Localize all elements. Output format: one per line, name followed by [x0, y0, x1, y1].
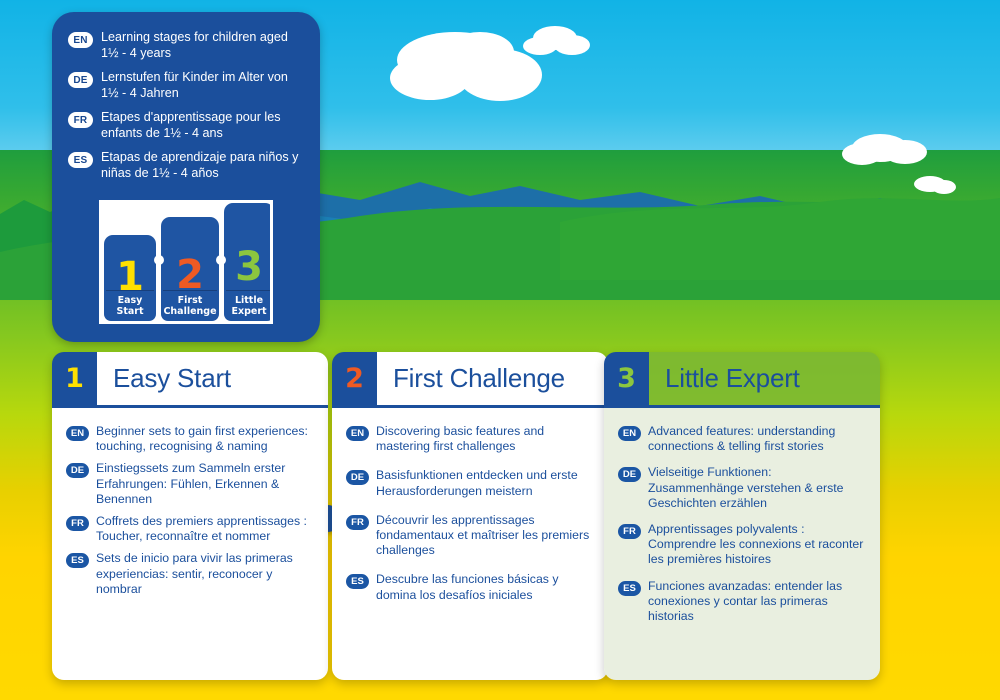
brand-logo-123: 1 EasyStart 2 FirstChallenge 3 LittleExp…	[99, 200, 273, 324]
card-title-1: Easy Start	[97, 352, 328, 405]
language-badge-fr: FR	[618, 524, 641, 539]
language-badge-en: EN	[68, 32, 93, 48]
logo-divider	[226, 290, 270, 291]
logo-connector-dot	[154, 255, 164, 265]
card-body: EN Advanced features: understanding conn…	[604, 408, 880, 680]
intro-line: ES Etapas de aprendizaje para niños y ni…	[68, 150, 304, 181]
language-badge-de: DE	[68, 72, 93, 88]
cloud-right	[842, 134, 927, 165]
language-badge-fr: FR	[66, 516, 89, 531]
card-text-fr: Coffrets des premiers apprentissages : T…	[96, 514, 312, 544]
card-text-es: Sets de inicio para vivir las primeras e…	[96, 551, 312, 597]
language-badge-de: DE	[618, 467, 641, 482]
logo-label-2: FirstChallenge	[161, 296, 219, 317]
language-badge-es: ES	[618, 581, 641, 596]
card-title-2: First Challenge	[377, 352, 608, 405]
card-text-es: Funciones avanzadas: entender las conexi…	[648, 579, 864, 625]
language-badge-de: DE	[66, 463, 89, 478]
logo-number-3: 3	[224, 247, 270, 287]
language-badge-es: ES	[68, 152, 93, 168]
card-text-de: Basisfunktionen entdecken und erste Hera…	[376, 468, 592, 498]
card-header: 2 First Challenge	[332, 352, 608, 408]
intro-text-en: Learning stages for children aged 1½ - 4…	[101, 30, 304, 61]
intro-text-de: Lernstufen für Kinder im Alter von 1½ - …	[101, 70, 304, 101]
card-text-fr: Découvrir les apprentissages fondamentau…	[376, 513, 592, 559]
intro-panel: EN Learning stages for children aged 1½ …	[52, 12, 320, 342]
cloud-large	[390, 32, 542, 101]
card-line: ES Funciones avanzadas: entender las con…	[618, 579, 864, 625]
logo-divider	[106, 290, 154, 291]
language-badge-fr: FR	[346, 515, 369, 530]
card-text-es: Descubre las funciones básicas y domina …	[376, 572, 592, 602]
card-body: EN Discovering basic features and master…	[332, 408, 608, 680]
intro-text-fr: Etapes d'apprentissage pour les enfants …	[101, 110, 304, 141]
card-line: DE Vielseitige Funktionen: Zusammenhänge…	[618, 465, 864, 511]
intro-line: FR Etapes d'apprentissage pour les enfan…	[68, 110, 304, 141]
language-badge-fr: FR	[68, 112, 93, 128]
card-line: FR Découvrir les apprentissages fondamen…	[346, 513, 592, 559]
card-line: DE Basisfunktionen entdecken und erste H…	[346, 468, 592, 498]
card-text-en: Advanced features: understanding connect…	[648, 424, 864, 454]
intro-line: DE Lernstufen für Kinder im Alter von 1½…	[68, 70, 304, 101]
stage-card-first-challenge: 2 First Challenge EN Discovering basic f…	[332, 352, 608, 680]
logo-connector-dot	[216, 255, 226, 265]
logo-divider	[163, 290, 217, 291]
card-number-1: 1	[52, 352, 97, 405]
card-title-3: Little Expert	[649, 352, 880, 405]
language-badge-es: ES	[66, 553, 89, 568]
stage-card-little-expert: 3 Little Expert EN Advanced features: un…	[604, 352, 880, 680]
card-line: ES Sets de inicio para vivir las primera…	[66, 551, 312, 597]
logo-stage-3: 3 LittleExpert	[224, 203, 270, 321]
intro-text-es: Etapas de aprendizaje para niños y niñas…	[101, 150, 304, 181]
card-text-de: Einstiegssets zum Sammeln erster Erfahru…	[96, 461, 312, 507]
card-text-de: Vielseitige Funktionen: Zusammenhänge ve…	[648, 465, 864, 511]
cloud-small-top	[523, 26, 590, 55]
logo-stage-1: 1 EasyStart	[104, 235, 156, 321]
card-line: FR Coffrets des premiers apprentissages …	[66, 514, 312, 544]
language-badge-en: EN	[66, 426, 89, 441]
card-line: EN Discovering basic features and master…	[346, 424, 592, 454]
logo-number-2: 2	[161, 255, 219, 295]
card-text-en: Beginner sets to gain first experiences:…	[96, 424, 312, 454]
language-badge-de: DE	[346, 470, 369, 485]
language-badge-en: EN	[346, 426, 369, 441]
card-header: 3 Little Expert	[604, 352, 880, 408]
card-number-3: 3	[604, 352, 649, 405]
card-line: DE Einstiegssets zum Sammeln erster Erfa…	[66, 461, 312, 507]
card-number-2: 2	[332, 352, 377, 405]
logo-number-1: 1	[104, 257, 156, 297]
language-badge-es: ES	[346, 574, 369, 589]
logo-label-1: EasyStart	[104, 296, 156, 317]
logo-label-3: LittleExpert	[224, 296, 270, 317]
card-header: 1 Easy Start	[52, 352, 328, 408]
card-body: EN Beginner sets to gain first experienc…	[52, 408, 328, 680]
card-line: FR Apprentissages polyvalents : Comprend…	[618, 522, 864, 568]
card-text-en: Discovering basic features and mastering…	[376, 424, 592, 454]
stage-card-easy-start: 1 Easy Start EN Beginner sets to gain fi…	[52, 352, 328, 680]
card-line: EN Beginner sets to gain first experienc…	[66, 424, 312, 454]
card-text-fr: Apprentissages polyvalents : Comprendre …	[648, 522, 864, 568]
logo-stage-2: 2 FirstChallenge	[161, 217, 219, 321]
language-badge-en: EN	[618, 426, 641, 441]
card-line: EN Advanced features: understanding conn…	[618, 424, 864, 454]
cloud-right-small	[914, 176, 956, 194]
card-line: ES Descubre las funciones básicas y domi…	[346, 572, 592, 602]
intro-line: EN Learning stages for children aged 1½ …	[68, 30, 304, 61]
